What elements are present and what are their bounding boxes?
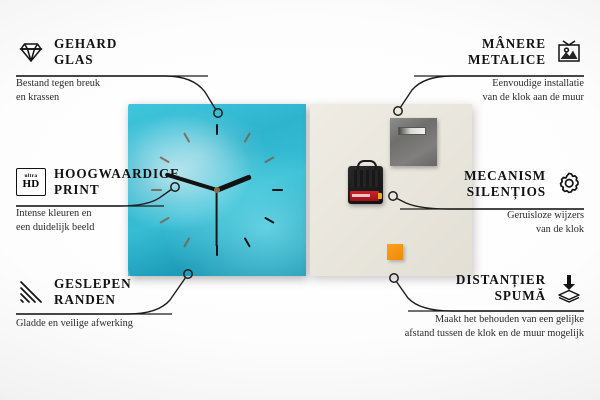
feature-description: Bestand tegen breuken krassen <box>16 77 208 105</box>
feature-title: MÂNEREMETALICE <box>468 36 546 68</box>
ultra-hd-icon: ultra HD <box>16 167 46 197</box>
feature-description: Intense kleuren eneen duidelijk beeld <box>16 207 208 235</box>
feature-title: MECANISMSILENȚIOS <box>464 168 546 200</box>
feature-gehard-glas: GEHARDGLAS Bestand tegen breuken krassen <box>16 36 208 106</box>
picture-frame-icon <box>554 37 584 67</box>
diamond-icon <box>16 37 46 67</box>
feature-description: Gladde en veilige afwerking <box>16 317 208 331</box>
press-stack-icon <box>554 273 584 303</box>
hd-label: HD <box>23 179 40 190</box>
feature-geslepen-randen: GESLEPENRANDEN Gladde en veilige afwerki… <box>16 276 208 331</box>
feature-mecanism-silentios: MECANISMSILENȚIOS Geruisloze wijzersvan … <box>392 168 584 238</box>
feature-title: DISTANȚIERSPUMĂ <box>456 272 546 304</box>
feature-description: Geruisloze wijzersvan de klok <box>392 209 584 237</box>
feature-hoogwaardige-print: ultra HD HOOGWAARDIGEPRINT Intense kleur… <box>16 166 208 236</box>
feature-title: GESLEPENRANDEN <box>54 276 132 308</box>
feature-title: GEHARDGLAS <box>54 36 117 68</box>
feature-description: Eenvoudige installatievan de klok aan de… <box>392 77 584 105</box>
infographic-canvas: GEHARDGLAS Bestand tegen breuken krassen… <box>0 0 600 400</box>
feature-description: Maakt het behouden van een gelijkeafstan… <box>378 313 584 341</box>
gear-icon <box>554 169 584 199</box>
feature-title: HOOGWAARDIGEPRINT <box>54 166 180 198</box>
feature-distantier-spuma: DISTANȚIERSPUMĂ Maakt het behouden van e… <box>392 272 584 342</box>
feature-manere-metalice: MÂNEREMETALICE Eenvoudige installatievan… <box>392 36 584 106</box>
bevelled-edge-icon <box>16 277 46 307</box>
